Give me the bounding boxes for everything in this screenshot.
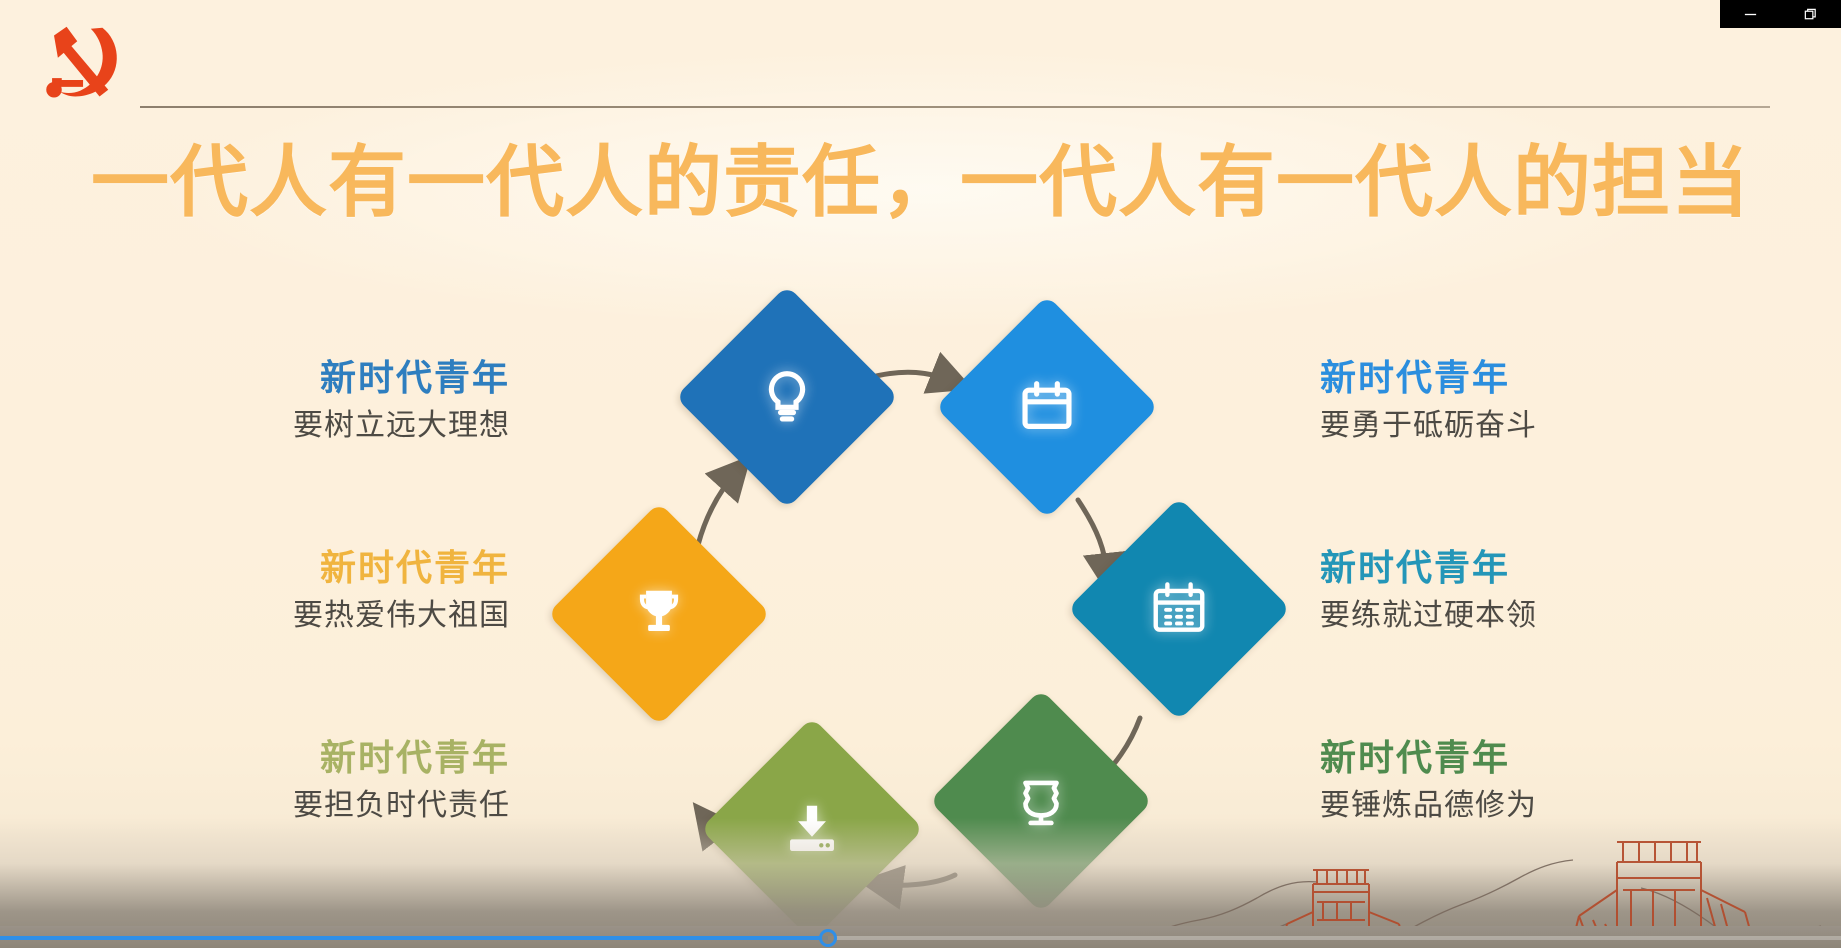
trophy-icon: [628, 583, 690, 645]
label-duty-head: 新时代青年: [40, 738, 510, 779]
label-struggle: 新时代青年 要勇于砥砺奋斗: [1320, 358, 1790, 444]
label-struggle-sub: 要勇于砥砺奋斗: [1320, 408, 1790, 444]
minimize-button[interactable]: [1730, 0, 1770, 28]
video-player-window: 一代人有一代人的责任，一代人有一代人的担当: [0, 0, 1841, 948]
calendar-icon: [1016, 376, 1078, 438]
calendar-grid-icon: [1148, 578, 1210, 640]
label-country: 新时代青年 要热爱伟大祖国: [40, 548, 510, 634]
label-skill-head: 新时代青年: [1320, 548, 1790, 589]
window-controls: [1720, 0, 1841, 28]
node-lightbulb[interactable]: [675, 285, 898, 508]
label-virtue: 新时代青年 要锤炼品德修为: [1320, 738, 1790, 824]
label-ideal-head: 新时代青年: [40, 358, 510, 399]
label-country-sub: 要热爱伟大祖国: [40, 598, 510, 634]
lightbulb-icon: [756, 366, 818, 428]
label-ideal-sub: 要树立远大理想: [40, 408, 510, 444]
node-calendar-grid[interactable]: [1067, 497, 1290, 720]
progress-fill: [0, 936, 828, 940]
node-calendar[interactable]: [935, 295, 1158, 518]
presentation-slide: 一代人有一代人的责任，一代人有一代人的担当: [0, 0, 1841, 948]
label-country-head: 新时代青年: [40, 548, 510, 589]
label-skill-sub: 要练就过硬本领: [1320, 598, 1790, 634]
label-struggle-head: 新时代青年: [1320, 358, 1790, 399]
label-virtue-head: 新时代青年: [1320, 738, 1790, 779]
label-ideal: 新时代青年 要树立远大理想: [40, 358, 510, 444]
label-duty: 新时代青年 要担负时代责任: [40, 738, 510, 824]
label-skill: 新时代青年 要练就过硬本领: [1320, 548, 1790, 634]
restore-button[interactable]: [1791, 0, 1831, 28]
progress-handle[interactable]: [819, 929, 837, 947]
video-player-bar: [0, 926, 1841, 948]
node-trophy[interactable]: [547, 502, 770, 725]
